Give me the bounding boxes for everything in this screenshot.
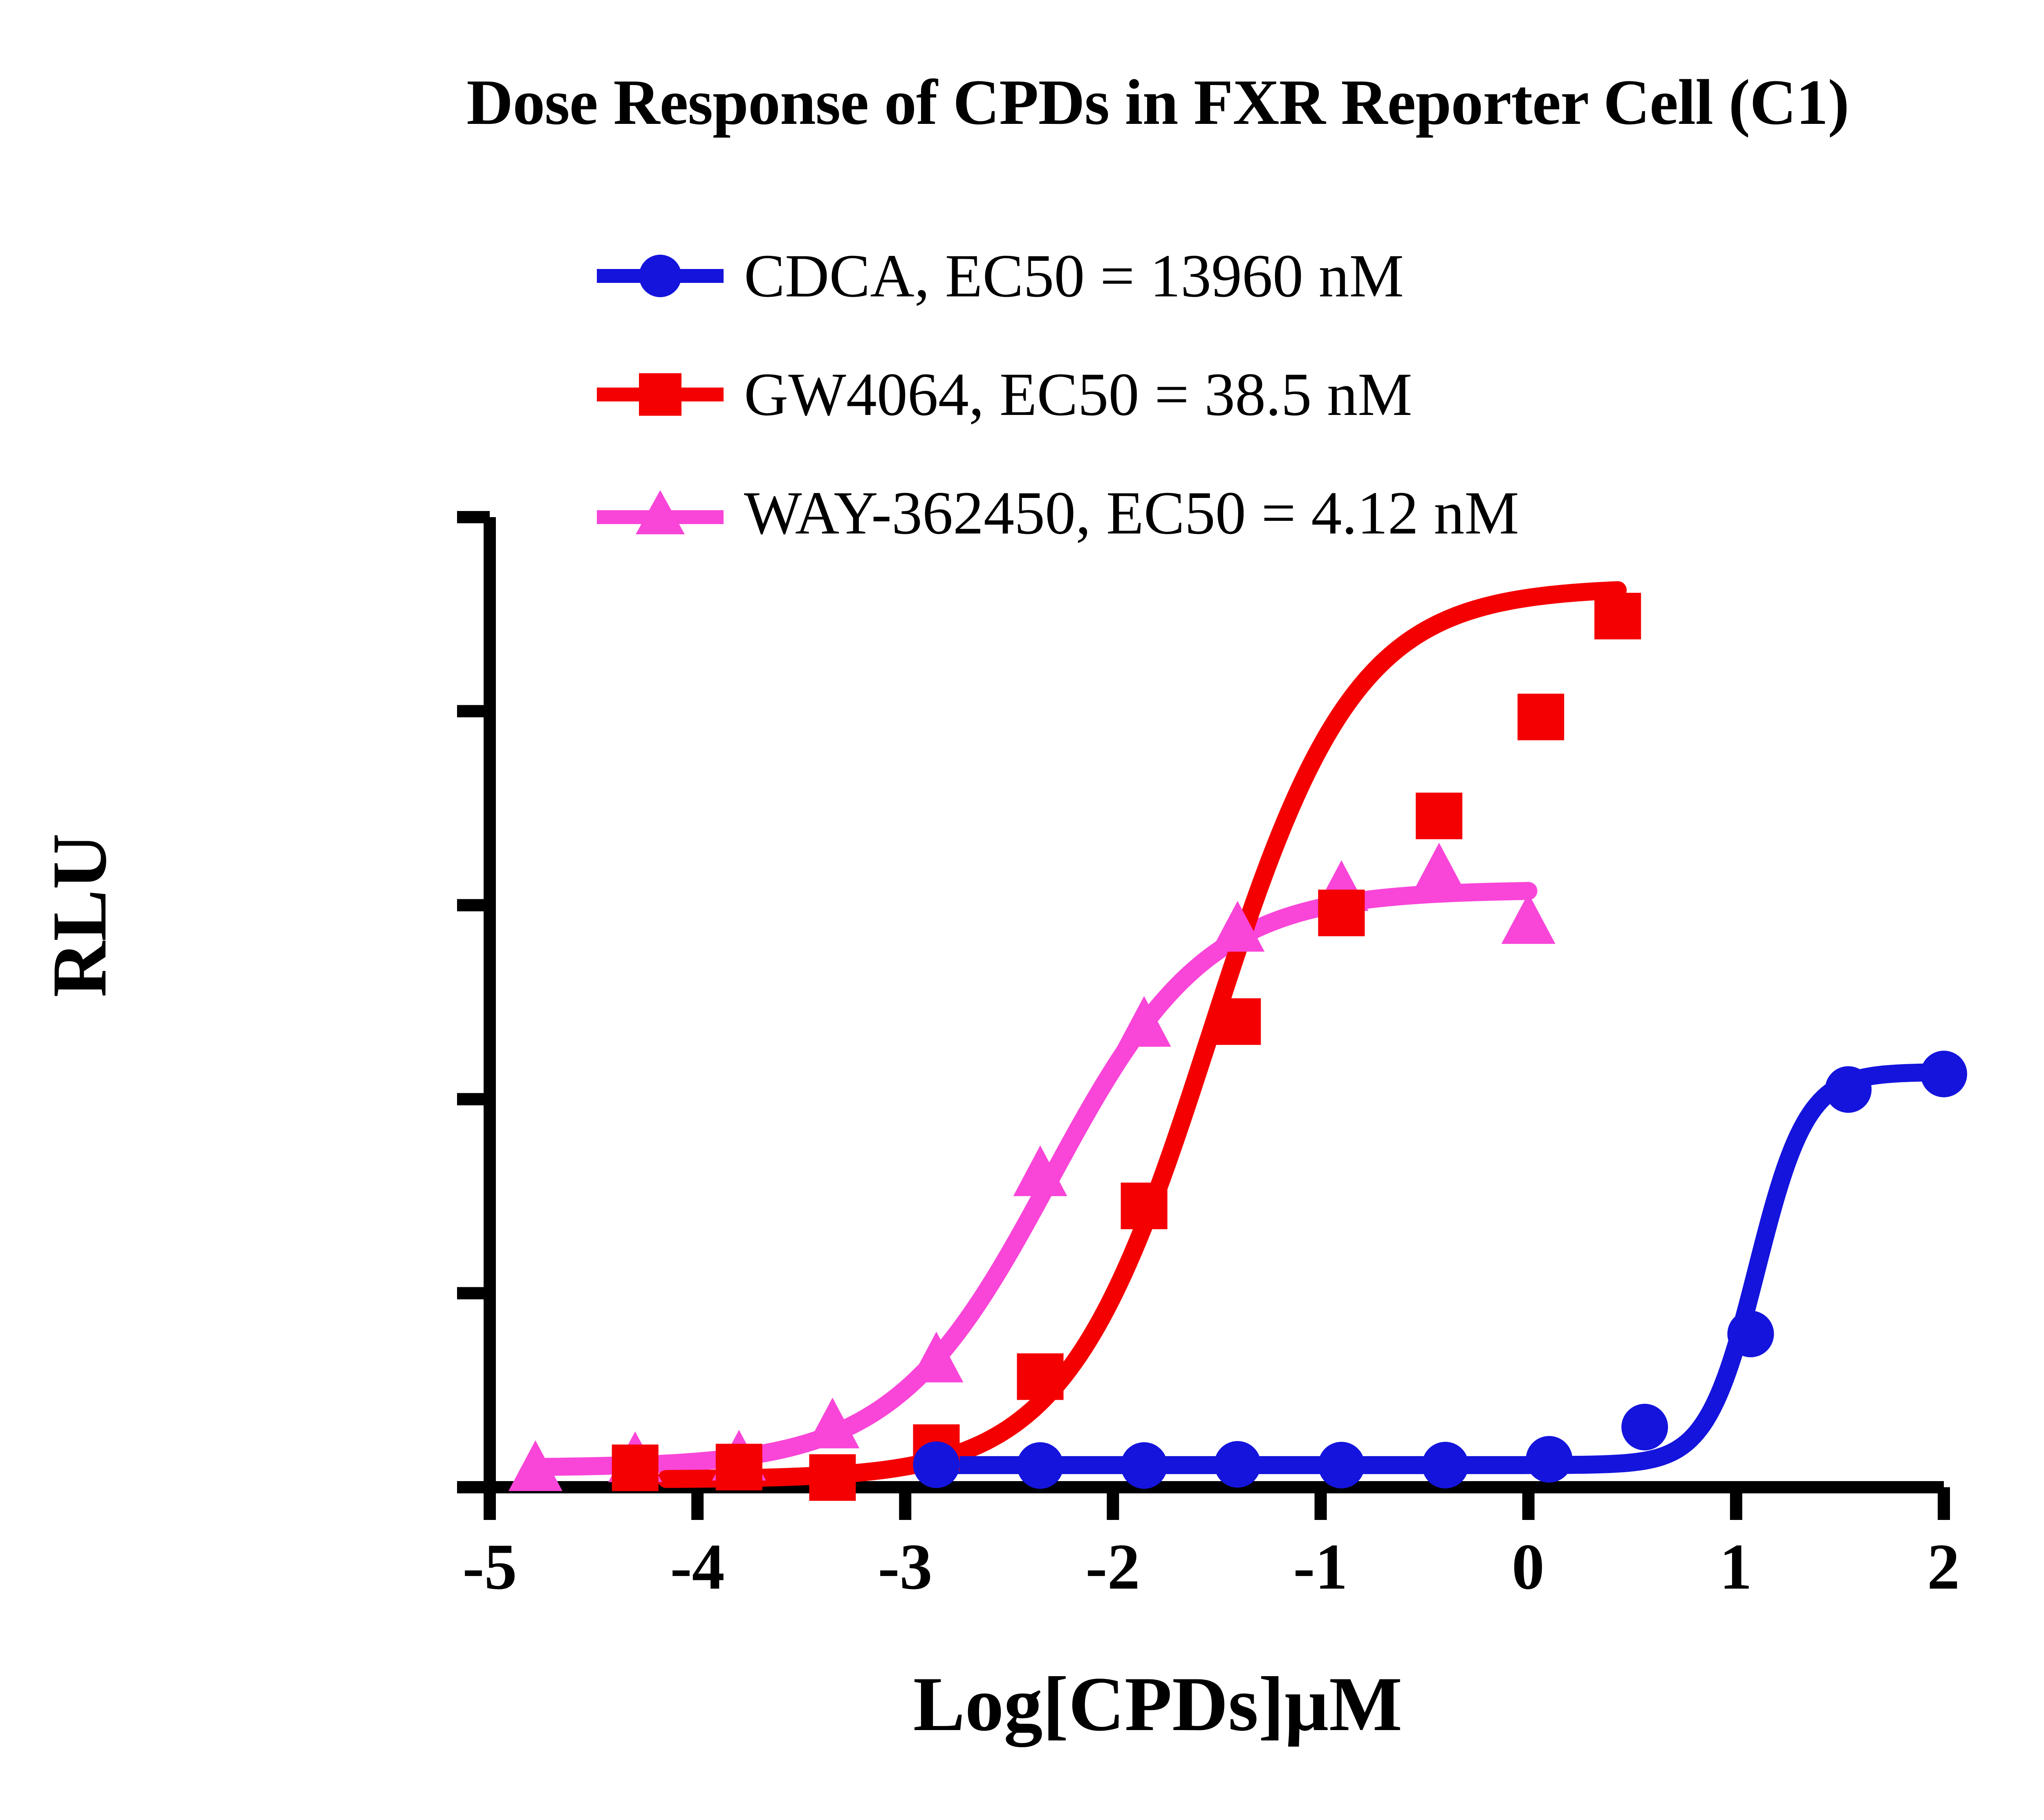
chart-page: Dose Response of CPDs in FXR Reporter Ce…: [0, 0, 2044, 1820]
data-point: [716, 1444, 762, 1491]
series-curve-cdca: [937, 1072, 1944, 1465]
data-point: [1825, 1066, 1871, 1113]
data-point: [1412, 843, 1466, 894]
data-point: [809, 1454, 856, 1501]
data-point: [1502, 893, 1555, 944]
data-point: [1214, 998, 1261, 1045]
data-point: [1526, 1436, 1573, 1483]
data-point: [913, 1441, 960, 1488]
data-point: [1921, 1051, 1967, 1097]
data-point: [1318, 890, 1365, 936]
data-point: [1621, 1404, 1668, 1450]
data-point: [1121, 1442, 1168, 1489]
data-point: [1318, 1442, 1365, 1488]
data-point: [1214, 1441, 1261, 1488]
data-point: [1594, 593, 1641, 639]
data-point: [1017, 1353, 1064, 1400]
data-point: [1727, 1311, 1774, 1357]
data-point: [1416, 793, 1462, 839]
data-point: [1017, 1442, 1064, 1489]
data-point: [1121, 1183, 1168, 1229]
data-point: [612, 1445, 659, 1491]
data-point: [1422, 1442, 1468, 1488]
plot-area: [0, 0, 2044, 1820]
data-point: [1517, 694, 1564, 740]
